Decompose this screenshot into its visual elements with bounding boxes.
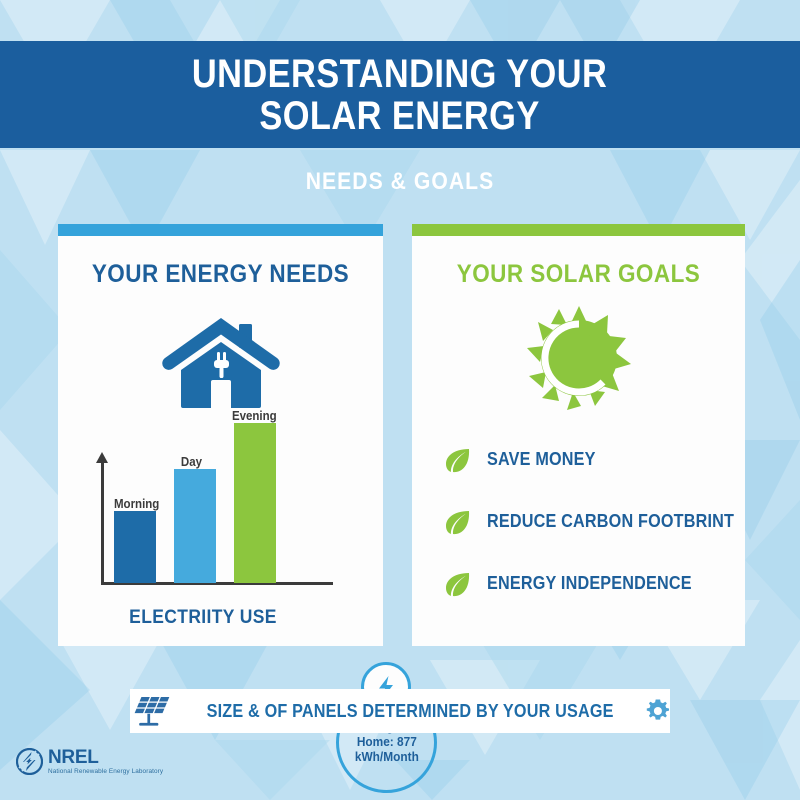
- list-item[interactable]: REDUCE CARBON FOOTBRINT: [445, 504, 735, 539]
- house-plug-icon: [160, 312, 282, 410]
- bar-label-morning: Morning: [114, 497, 159, 511]
- chart-y-axis: [101, 458, 104, 583]
- leaf-icon: [445, 509, 471, 535]
- card-title-energy-needs: YOUR ENERGY NEEDS: [74, 260, 367, 289]
- list-item[interactable]: ENERGY INDEPENDENCE: [445, 566, 735, 601]
- bar-label-day: Day: [181, 455, 202, 469]
- nrel-logo: NREL National Renewable Energy Laborator…: [16, 748, 163, 775]
- bar-day: [174, 469, 216, 583]
- bar-evening: [234, 423, 276, 583]
- header-band: UNDERSTANDING YOUR SOLAR ENERGY: [0, 41, 800, 148]
- chart-caption-electricity-use: ELECTRIITY USE: [70, 607, 337, 629]
- card-energy-needs: YOUR ENERGY NEEDS Morning Day: [58, 224, 383, 646]
- nrel-wordmark: NREL: [48, 748, 163, 767]
- bar-morning: [114, 511, 156, 583]
- list-item[interactable]: SAVE MONEY: [445, 442, 735, 477]
- bar-label-evening: Evening: [232, 409, 277, 423]
- header-subtitle: NEEDS & GOALS: [48, 168, 752, 196]
- sun-icon: [527, 306, 631, 410]
- page-title: UNDERSTANDING YOUR SOLAR ENERGY: [192, 53, 607, 137]
- card-title-solar-goals: YOUR SOLAR GOALS: [429, 260, 729, 289]
- goal-label: SAVE MONEY: [487, 449, 596, 470]
- bottom-banner: SIZE & OF PANELS DETERMINED BY YOUR USAG…: [130, 689, 670, 733]
- card-accent-bar-needs: [58, 224, 383, 236]
- card-solar-goals: YOUR SOLAR GOALS: [412, 224, 745, 646]
- leaf-icon: [445, 571, 471, 597]
- nrel-tagline: National Renewable Energy Laboratory: [48, 769, 163, 775]
- leaf-icon: [445, 447, 471, 473]
- banner-text: SIZE & OF PANELS DETERMINED BY YOUR USAG…: [207, 701, 614, 722]
- nrel-mark-icon: [16, 748, 43, 775]
- goal-label: REDUCE CARBON FOOTBRINT: [487, 511, 734, 532]
- solar-panel-icon: [130, 692, 174, 730]
- card-accent-bar-goals: [412, 224, 745, 236]
- chart-y-axis-arrow: [96, 452, 108, 463]
- electricity-use-bar-chart: Morning Day Evening Average US Home: 877…: [88, 429, 363, 609]
- infographic-canvas: UNDERSTANDING YOUR SOLAR ENERGY NEEDS & …: [0, 0, 800, 800]
- solar-goals-list: SAVE MONEY REDUCE CARBON FOOTBRINT ENERG…: [445, 442, 735, 628]
- gear-icon[interactable]: [646, 698, 670, 724]
- goal-label: ENERGY INDEPENDENCE: [487, 573, 692, 594]
